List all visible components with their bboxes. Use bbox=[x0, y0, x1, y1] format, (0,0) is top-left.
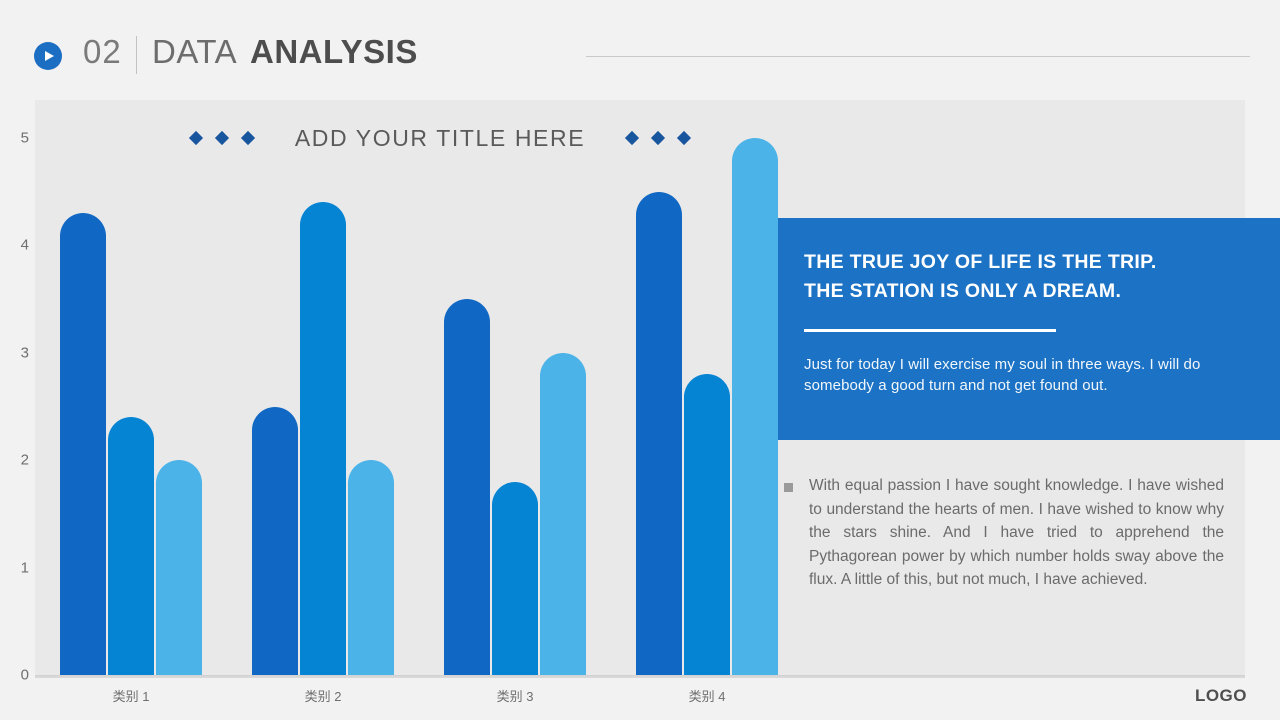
x-axis-label: 类别 2 bbox=[305, 686, 342, 705]
header-word-data: DATA bbox=[152, 33, 237, 71]
y-axis-tick: 2 bbox=[7, 452, 29, 469]
callout-body: Just for today I will exercise my soul i… bbox=[804, 354, 1254, 398]
bullet-paragraph: With equal passion I have sought knowled… bbox=[809, 474, 1224, 592]
chart-bar bbox=[684, 374, 730, 675]
chart-bar bbox=[348, 460, 394, 675]
x-axis-label: 类别 4 bbox=[689, 686, 726, 705]
chart-bar bbox=[156, 460, 202, 675]
callout-rule bbox=[804, 329, 1056, 332]
play-triangle-icon bbox=[45, 51, 54, 61]
callout-heading-line2: THE STATION IS ONLY A DREAM. bbox=[804, 277, 1254, 306]
chart-bar bbox=[108, 417, 154, 675]
y-axis-tick: 4 bbox=[7, 237, 29, 254]
slide-root: 02 DATA ANALYSIS 012345 ADD YOUR TITLE H… bbox=[0, 0, 1280, 720]
callout-heading: THE TRUE JOY OF LIFE IS THE TRIP. THE ST… bbox=[804, 248, 1254, 307]
square-bullet-icon bbox=[784, 483, 793, 492]
footer-rule bbox=[35, 676, 1245, 678]
chart-bar bbox=[60, 213, 106, 675]
logo: LOGO bbox=[1195, 686, 1247, 706]
y-axis-tick: 1 bbox=[7, 559, 29, 576]
y-axis: 012345 bbox=[7, 100, 35, 676]
x-axis-label: 类别 1 bbox=[113, 686, 150, 705]
chart-bar bbox=[252, 407, 298, 676]
bullet-block: With equal passion I have sought knowled… bbox=[784, 474, 1224, 592]
chart-bar bbox=[732, 138, 778, 675]
chart-bar bbox=[492, 482, 538, 675]
slide-header: 02 DATA ANALYSIS bbox=[0, 0, 1280, 96]
quote-callout: THE TRUE JOY OF LIFE IS THE TRIP. THE ST… bbox=[778, 218, 1280, 440]
callout-heading-line1: THE TRUE JOY OF LIFE IS THE TRIP. bbox=[804, 248, 1254, 277]
play-circle-icon bbox=[34, 42, 62, 70]
header-rule bbox=[586, 56, 1250, 57]
y-axis-tick: 3 bbox=[7, 344, 29, 361]
chart-bar bbox=[444, 299, 490, 675]
chart-bar bbox=[636, 192, 682, 675]
x-axis-labels: 类别 1类别 2类别 3类别 4 bbox=[35, 686, 1245, 710]
section-number: 02 bbox=[83, 33, 122, 71]
header-word-analysis: ANALYSIS bbox=[250, 33, 418, 71]
y-axis-tick: 0 bbox=[7, 667, 29, 684]
x-axis-label: 类别 3 bbox=[497, 686, 534, 705]
header-divider bbox=[136, 36, 137, 74]
chart-bar bbox=[540, 353, 586, 675]
chart-bar bbox=[300, 202, 346, 675]
y-axis-tick: 5 bbox=[7, 130, 29, 147]
